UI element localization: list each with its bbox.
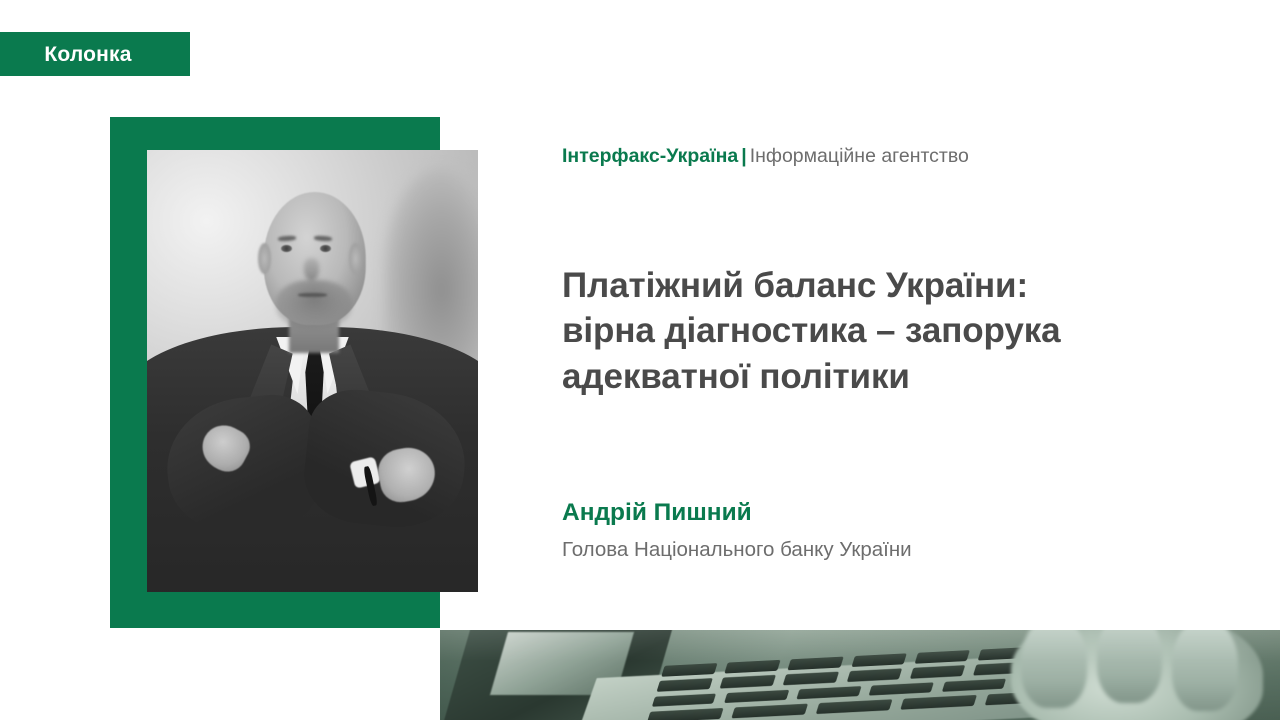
portrait-photo-frame: [147, 150, 478, 592]
brand-line: Інтерфакс-Україна|Інформаційне агентство: [562, 144, 1202, 169]
portrait-beard: [276, 280, 352, 329]
portrait-mouth: [298, 293, 328, 297]
headline-line-3: адекватної політики: [562, 357, 910, 396]
author-name: Андрій Пишний: [562, 498, 1202, 529]
brand-name: Інтерфакс-Україна: [562, 145, 738, 167]
portrait-ear-right: [349, 243, 362, 274]
page-title: Платіжний баланс України: вірна діагност…: [562, 263, 1142, 398]
content-column: Інтерфакс-Україна|Інформаційне агентство…: [562, 144, 1202, 563]
brand-separator: |: [741, 145, 746, 167]
keyboard-photo: [440, 630, 1280, 720]
bottom-decorative-band: [440, 630, 1280, 720]
portrait-photo: [147, 150, 478, 592]
headline-line-2: вірна діагностика – запорука: [562, 311, 1061, 350]
portrait-ear-left: [258, 243, 271, 274]
category-tag-label: Колонка: [44, 44, 131, 65]
headline-line-1: Платіжний баланс України:: [562, 266, 1028, 305]
author-role: Голова Національного банку України: [562, 537, 1202, 563]
typing-hand: [1011, 630, 1263, 720]
byline: Андрій Пишний Голова Національного банку…: [562, 498, 1202, 563]
brand-description: Інформаційне агентство: [750, 145, 969, 167]
slide-canvas: Колонка: [0, 0, 1280, 720]
category-tag[interactable]: Колонка: [0, 32, 190, 76]
portrait-eye-left: [281, 245, 292, 252]
